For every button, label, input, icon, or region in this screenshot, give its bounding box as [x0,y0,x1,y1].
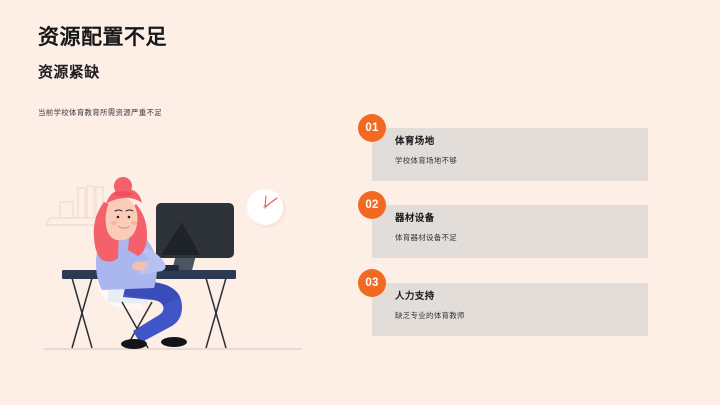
lede-text: 当前学校体育教育所需资源严重不足 [38,107,318,118]
card-number-badge: 01 [358,114,386,142]
illustration [30,160,350,380]
card-body: 体育场地 学校体育场地不够 [395,136,638,167]
card-description: 体育器材设备不足 [395,233,638,244]
card-title: 人力支持 [395,291,638,302]
page-subtitle: 资源紧缺 [38,64,338,82]
cards-list: 01 体育场地 学校体育场地不够 02 器材设备 体育器材设备不足 03 人力支… [372,114,672,354]
wall-clock [247,189,286,228]
card-body: 器材设备 体育器材设备不足 [395,213,638,244]
list-item[interactable]: 01 体育场地 学校体育场地不够 [372,128,648,181]
card-title: 体育场地 [395,136,638,147]
slide-root: 资源配置不足 资源紧缺 当前学校体育教育所需资源严重不足 [0,0,720,405]
headings-block: 资源配置不足 资源紧缺 [38,26,338,82]
card-description: 学校体育场地不够 [395,156,638,167]
card-number-badge: 03 [358,269,386,297]
page-title: 资源配置不足 [38,26,338,50]
card-number-badge: 02 [358,191,386,219]
card-description: 缺乏专业的体育教师 [395,311,638,322]
list-item[interactable]: 02 器材设备 体育器材设备不足 [372,205,648,258]
card-title: 器材设备 [395,213,638,224]
card-body: 人力支持 缺乏专业的体育教师 [395,291,638,322]
list-item[interactable]: 03 人力支持 缺乏专业的体育教师 [372,283,648,336]
